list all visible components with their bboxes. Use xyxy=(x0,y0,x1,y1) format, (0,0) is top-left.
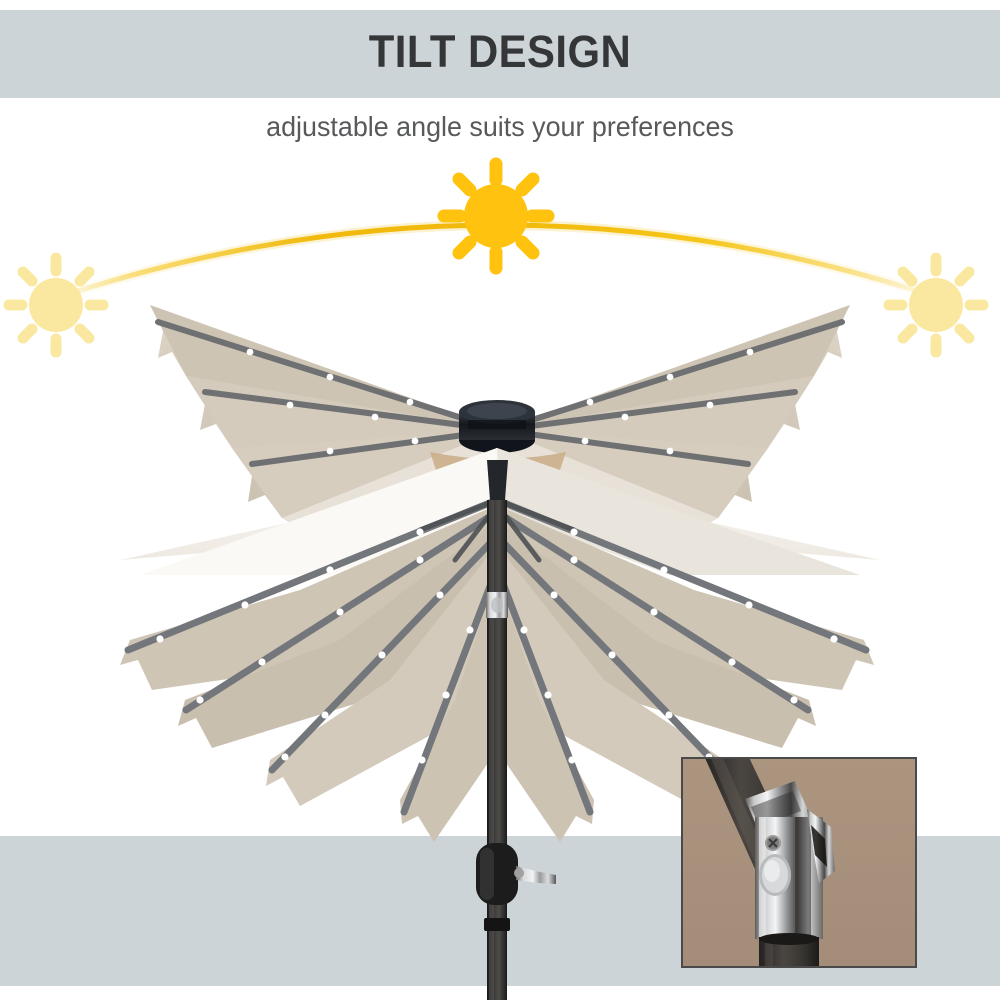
feature-panel: TILT DESIGN adjustable angle suits your … xyxy=(0,0,1000,1000)
screw-icon xyxy=(765,835,781,851)
sun-icon-left xyxy=(9,258,103,352)
sun-icon-right xyxy=(889,258,983,352)
tilt-mechanism-drawing xyxy=(683,759,917,968)
sun-icon-center xyxy=(444,164,548,268)
tilt-button xyxy=(759,854,791,896)
lower-pole-segment xyxy=(759,933,819,968)
tilt-mechanism-closeup-inset xyxy=(681,757,917,968)
solar-panel-hub xyxy=(459,400,535,453)
